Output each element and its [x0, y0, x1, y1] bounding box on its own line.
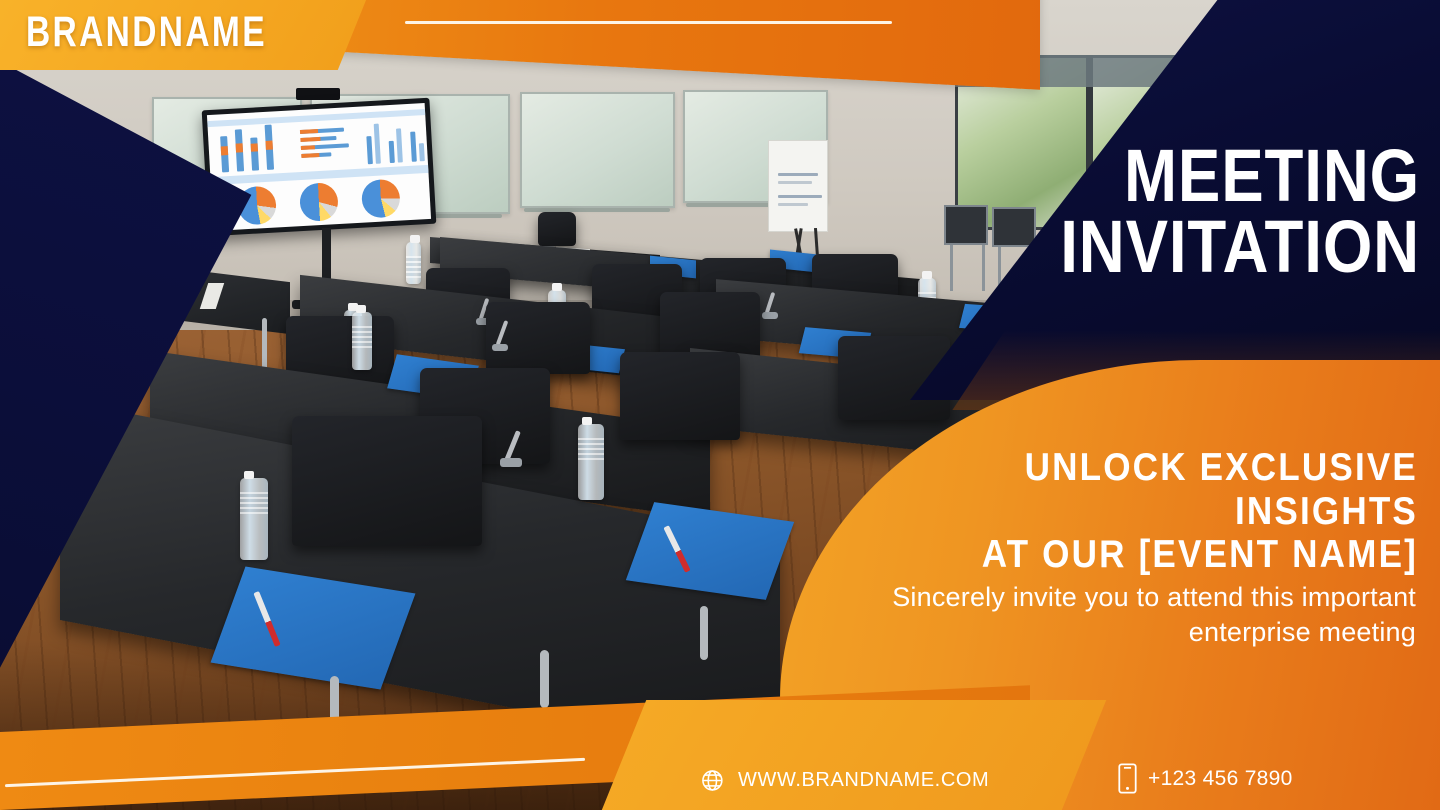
- table-leg: [700, 606, 708, 660]
- flipchart-board: [768, 140, 828, 232]
- header-rule: [405, 21, 892, 24]
- microphone-base: [500, 458, 522, 467]
- water-bottle: [240, 478, 268, 560]
- water-bottle: [406, 242, 421, 284]
- chair: [538, 212, 576, 246]
- contact-phone[interactable]: +123 456 7890: [1118, 763, 1293, 794]
- title-line-2: INVITATION: [973, 211, 1420, 282]
- chair: [620, 352, 740, 440]
- body-text: Sincerely invite you to attend this impo…: [796, 580, 1416, 649]
- brand-name: BRANDNAME: [26, 11, 267, 54]
- monitor-mount: [296, 88, 340, 100]
- headline-line-1: UNLOCK EXCLUSIVE INSIGHTS: [878, 446, 1418, 533]
- page-title: MEETING INVITATION: [900, 140, 1420, 282]
- microphone-base: [762, 312, 778, 319]
- microphone-base: [492, 344, 508, 351]
- title-line-1: MEETING: [973, 140, 1420, 211]
- table-leg: [540, 650, 549, 708]
- whiteboard: [520, 92, 675, 208]
- smartphone-icon: [1118, 763, 1137, 794]
- headline: UNLOCK EXCLUSIVE INSIGHTS AT OUR [EVENT …: [818, 446, 1418, 577]
- water-bottle: [578, 424, 604, 500]
- headline-line-2: AT OUR [EVENT NAME]: [878, 533, 1418, 577]
- phone-label: +123 456 7890: [1148, 767, 1293, 791]
- water-bottle: [352, 312, 372, 370]
- meeting-invitation-poster: BRANDNAME MEETING INVITATION UNLOCK EXCL…: [0, 0, 1440, 810]
- website-label: WWW.BRANDNAME.COM: [738, 769, 989, 792]
- contact-website[interactable]: WWW.BRANDNAME.COM: [700, 767, 989, 794]
- chair-foreground: [292, 416, 482, 546]
- globe-icon: [700, 767, 727, 794]
